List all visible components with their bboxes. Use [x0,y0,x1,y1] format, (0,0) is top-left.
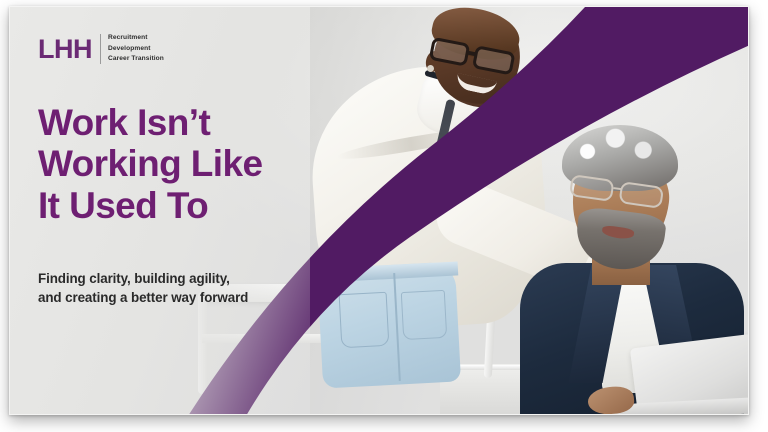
logo-tagline-line-3: Career Transition [108,54,164,65]
page-title: Work Isn’t Working Like It Used To [38,102,328,226]
subtitle-line-2: and creating a better way forward [38,288,328,307]
headline-line-3: It Used To [38,185,328,226]
slide-frame: LHH Recruitment Development Career Trans… [9,6,749,415]
woman-earring [427,65,434,72]
logo-tagline: Recruitment Development Career Transitio… [108,33,164,65]
logo-divider [100,34,101,64]
seated-man [506,125,749,415]
woman-jeans-pocket [401,290,447,340]
woman-jeans-pocket [339,292,390,348]
headline-line-1: Work Isn’t [38,102,328,143]
logo-wordmark: LHH [38,36,92,63]
text-panel: LHH Recruitment Development Career Trans… [10,7,310,415]
headline-line-2: Working Like [38,143,328,184]
logo-tagline-line-1: Recruitment [108,33,164,44]
page-subtitle: Finding clarity, building agility, and c… [38,269,328,307]
logo-tagline-line-2: Development [108,44,164,55]
lhh-logo: LHH Recruitment Development Career Trans… [38,33,164,65]
subtitle-line-1: Finding clarity, building agility, [38,269,328,288]
